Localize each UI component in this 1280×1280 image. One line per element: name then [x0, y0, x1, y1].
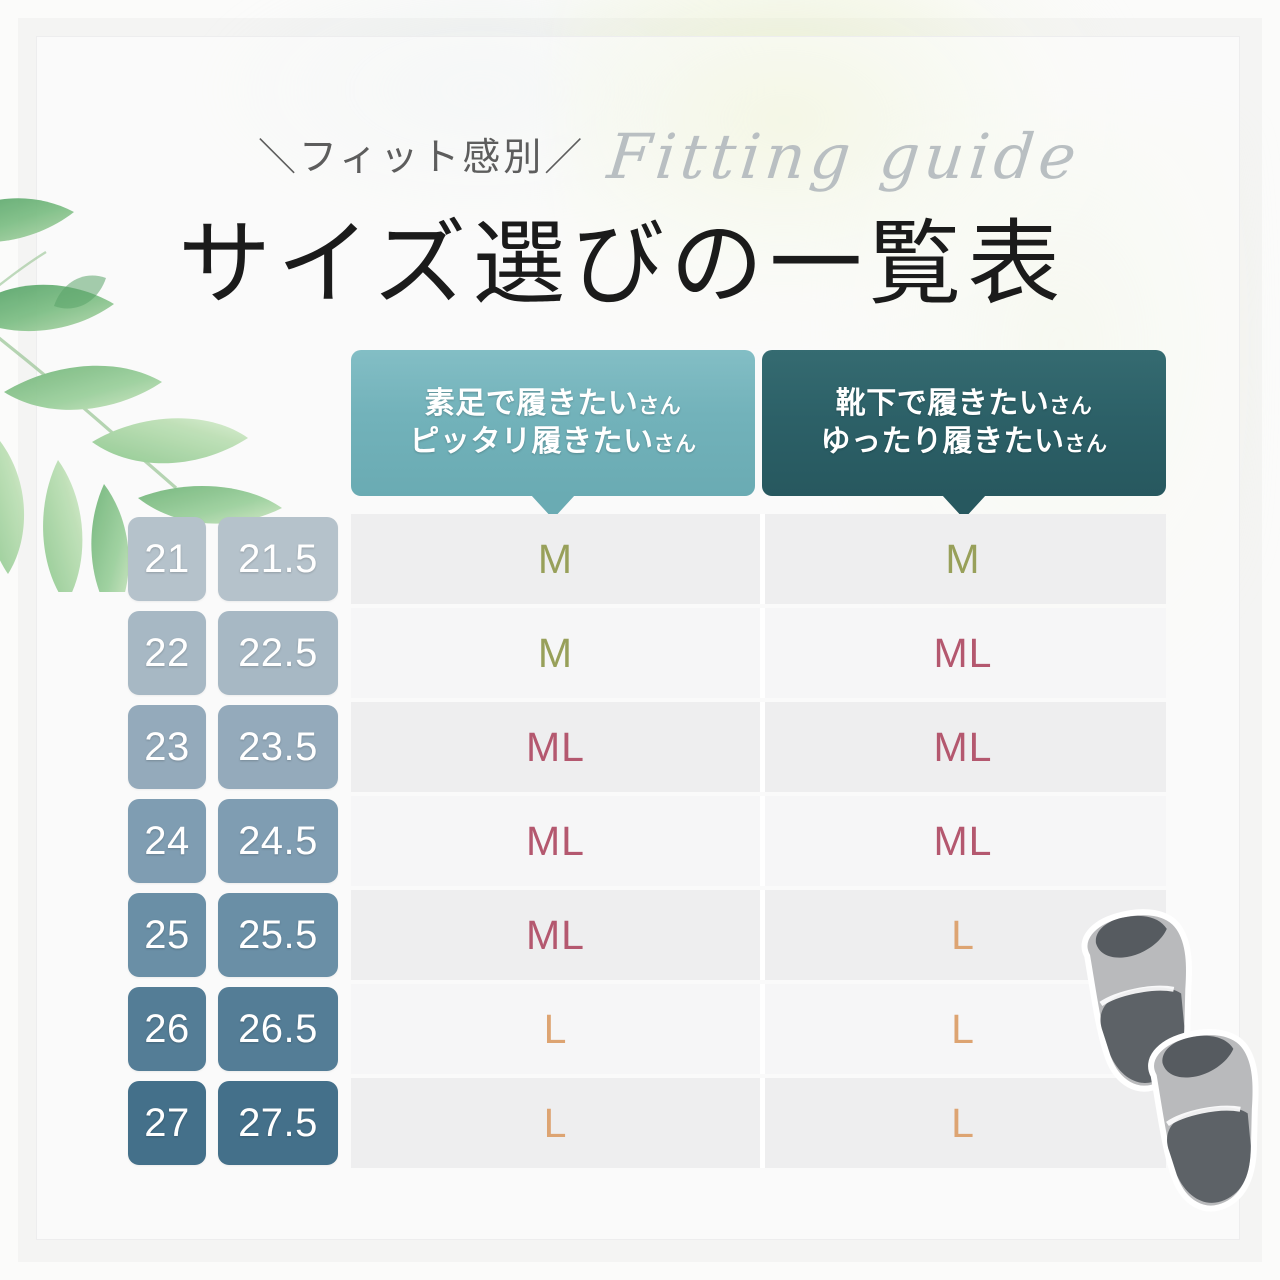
- label-suffix: さん: [1049, 395, 1092, 418]
- column-header-socks: 靴下で履きたいさん ゆったり履きたいさん: [762, 350, 1166, 496]
- cell-socks-size: ML: [760, 702, 1166, 792]
- size-badge-whole: 21: [128, 517, 206, 601]
- size-table: 2121.5MM2222.5MML2323.5MLML2424.5MLML252…: [128, 512, 1166, 1170]
- label-main: ピッタリ履きたい: [410, 425, 654, 458]
- column-header-socks-line2: ゆったり履きたいさん: [821, 423, 1108, 461]
- column-header-barefoot: 素足で履きたいさん ピッタリ履きたいさん: [351, 350, 755, 496]
- size-badge-whole: 27: [128, 1081, 206, 1165]
- table-row: 2121.5MM: [128, 512, 1166, 606]
- column-header-barefoot-line2: ピッタリ履きたいさん: [410, 423, 697, 461]
- size-badge-half: 25.5: [218, 893, 338, 977]
- cell-barefoot-size: ML: [351, 796, 760, 886]
- cell-barefoot-size: ML: [351, 702, 760, 792]
- table-row: 2626.5LL: [128, 982, 1166, 1076]
- size-badge-whole: 24: [128, 799, 206, 883]
- size-badge-whole: 22: [128, 611, 206, 695]
- cell-barefoot-size: L: [351, 1078, 760, 1168]
- table-row: 2222.5MML: [128, 606, 1166, 700]
- label-suffix: さん: [638, 395, 681, 418]
- cell-barefoot-size: M: [351, 514, 760, 604]
- cell-barefoot-size: M: [351, 608, 760, 698]
- label-main: 靴下で履きたい: [836, 387, 1050, 420]
- cell-socks-size: M: [760, 514, 1166, 604]
- cell-barefoot-size: ML: [351, 890, 760, 980]
- size-badge-whole: 26: [128, 987, 206, 1071]
- size-badge-half: 24.5: [218, 799, 338, 883]
- size-badge-half: 21.5: [218, 517, 338, 601]
- column-header-socks-line1: 靴下で履きたいさん: [836, 385, 1093, 423]
- eyebrow-text: ＼フィット感別／: [258, 126, 585, 181]
- table-row: 2323.5MLML: [128, 700, 1166, 794]
- size-badge-half: 26.5: [218, 987, 338, 1071]
- size-badge-half: 27.5: [218, 1081, 338, 1165]
- table-row: 2525.5MLL: [128, 888, 1166, 982]
- label-suffix: さん: [654, 433, 697, 456]
- label-main: ゆったり履きたい: [821, 425, 1065, 458]
- header-eyebrow-row: ＼フィット感別／ Fitting guide: [0, 126, 1280, 188]
- cell-socks-size: L: [760, 1078, 1166, 1168]
- table-row: 2424.5MLML: [128, 794, 1166, 888]
- cell-socks-size: ML: [760, 796, 1166, 886]
- script-title: Fitting guide: [604, 120, 1084, 193]
- table-row: 2727.5LL: [128, 1076, 1166, 1170]
- cell-socks-size: L: [760, 890, 1166, 980]
- size-badge-half: 22.5: [218, 611, 338, 695]
- cell-barefoot-size: L: [351, 984, 760, 1074]
- size-badge-whole: 25: [128, 893, 206, 977]
- fitting-guide-page: ＼フィット感別／ Fitting guide サイズ選びの一覧表 素足で履きたい…: [0, 0, 1280, 1280]
- column-header-barefoot-line1: 素足で履きたいさん: [425, 385, 682, 423]
- size-badge-half: 23.5: [218, 705, 338, 789]
- cell-socks-size: ML: [760, 608, 1166, 698]
- page-title: サイズ選びの一覧表: [178, 188, 1066, 323]
- label-main: 素足で履きたい: [425, 387, 639, 420]
- cell-socks-size: L: [760, 984, 1166, 1074]
- label-suffix: さん: [1065, 433, 1108, 456]
- size-badge-whole: 23: [128, 705, 206, 789]
